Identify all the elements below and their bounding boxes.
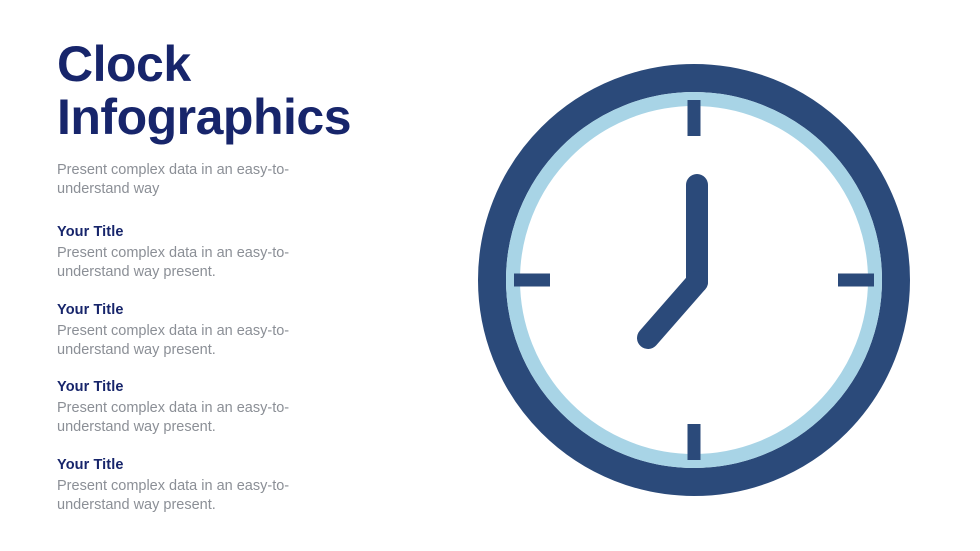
list-item-title: Your Title [57, 302, 387, 318]
list-item-title: Your Title [57, 224, 387, 240]
bullet-list: Your Title Present complex data in an ea… [57, 224, 387, 515]
page-title: Clock Infographics [57, 38, 387, 144]
clock-icon [476, 62, 912, 498]
text-column: Clock Infographics Present complex data … [57, 38, 387, 515]
clock-tick-3 [838, 274, 874, 287]
clock-tick-6 [688, 424, 701, 460]
clock-tick-12 [688, 100, 701, 136]
list-item-description: Present complex data in an easy-to-under… [57, 399, 303, 437]
list-item: Your Title Present complex data in an ea… [57, 302, 387, 360]
clock-tick-9 [514, 274, 550, 287]
list-item-description: Present complex data in an easy-to-under… [57, 244, 303, 282]
list-item: Your Title Present complex data in an ea… [57, 224, 387, 282]
list-item: Your Title Present complex data in an ea… [57, 379, 387, 437]
list-item-title: Your Title [57, 457, 387, 473]
clock-illustration [476, 62, 912, 498]
slide-canvas: Clock Infographics Present complex data … [0, 0, 980, 551]
list-item: Your Title Present complex data in an ea… [57, 457, 387, 515]
list-item-title: Your Title [57, 379, 387, 395]
list-item-description: Present complex data in an easy-to-under… [57, 322, 303, 360]
list-item-description: Present complex data in an easy-to-under… [57, 477, 303, 515]
subtitle: Present complex data in an easy-to-under… [57, 161, 319, 198]
